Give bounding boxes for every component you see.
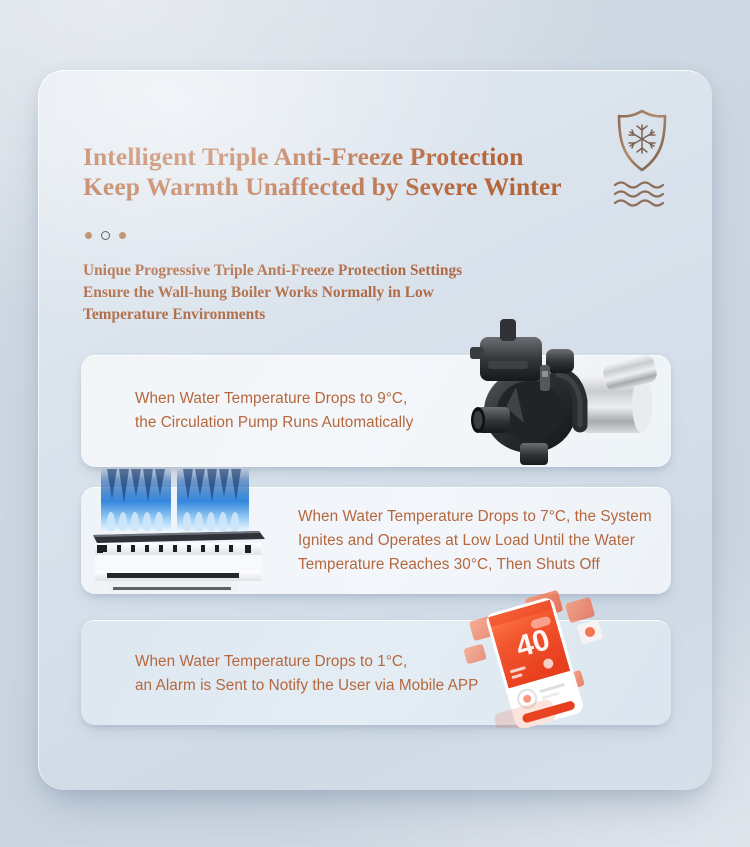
carousel-dots[interactable] bbox=[85, 231, 126, 240]
app-temperature-value: 40 bbox=[512, 623, 553, 664]
card-pump-text: When Water Temperature Drops to 9°C, the… bbox=[135, 387, 413, 435]
card-burner-text: When Water Temperature Drops to 7°C, the… bbox=[298, 505, 652, 577]
card-pump-line-2: the Circulation Pump Runs Automatically bbox=[135, 411, 413, 435]
gas-burner-illustration bbox=[87, 469, 277, 594]
card-app-line-1: When Water Temperature Drops to 1°C, bbox=[135, 650, 478, 674]
circulation-pump-illustration bbox=[454, 315, 669, 470]
page-title-line-1: Intelligent Triple Anti-Freeze Protectio… bbox=[83, 142, 603, 172]
gas-burner-flame-image bbox=[87, 469, 277, 594]
card-burner-line-3: Temperature Reaches 30°C, Then Shuts Off bbox=[298, 553, 652, 577]
circulation-pump-image bbox=[454, 315, 669, 470]
carousel-dot-2-active[interactable] bbox=[101, 231, 110, 240]
page-subtitle-line-2: Ensure the Wall-hung Boiler Works Normal… bbox=[83, 282, 603, 304]
feature-card-burner[interactable]: When Water Temperature Drops to 7°C, the… bbox=[81, 487, 671, 594]
card-burner-line-1: When Water Temperature Drops to 7°C, the… bbox=[298, 505, 652, 529]
feature-card-pump[interactable]: When Water Temperature Drops to 9°C, the… bbox=[81, 355, 671, 467]
shield-snowflake-icon bbox=[614, 108, 670, 174]
feature-card-app[interactable]: 40 bbox=[81, 620, 671, 725]
card-app-text: When Water Temperature Drops to 1°C, an … bbox=[135, 650, 478, 698]
feature-panel: Intelligent Triple Anti-Freeze Protectio… bbox=[38, 70, 712, 790]
badge-group bbox=[606, 108, 678, 218]
card-pump-line-1: When Water Temperature Drops to 9°C, bbox=[135, 387, 413, 411]
carousel-dot-3[interactable] bbox=[119, 232, 126, 239]
mobile-app-alarm-image: 40 bbox=[461, 588, 661, 728]
page-title: Intelligent Triple Anti-Freeze Protectio… bbox=[83, 142, 603, 202]
page-subtitle-line-3: Temperature Environments bbox=[83, 304, 603, 326]
page-background: Intelligent Triple Anti-Freeze Protectio… bbox=[0, 0, 750, 847]
carousel-dot-1[interactable] bbox=[85, 232, 92, 239]
mobile-app-illustration: 40 bbox=[461, 588, 661, 728]
card-app-line-2: an Alarm is Sent to Notify the User via … bbox=[135, 674, 478, 698]
page-subtitle: Unique Progressive Triple Anti-Freeze Pr… bbox=[83, 260, 603, 326]
page-subtitle-line-1: Unique Progressive Triple Anti-Freeze Pr… bbox=[83, 260, 603, 282]
page-title-line-2: Keep Warmth Unaffected by Severe Winter bbox=[83, 172, 603, 202]
card-burner-line-2: Ignites and Operates at Low Load Until t… bbox=[298, 529, 652, 553]
heat-waves-icon bbox=[612, 178, 668, 208]
